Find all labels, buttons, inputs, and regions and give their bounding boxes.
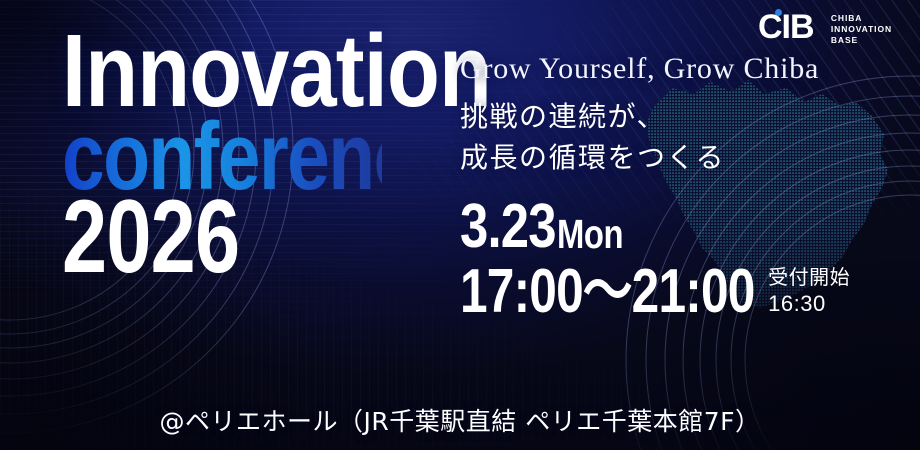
event-date-row: 3.23 Mon [460,200,900,253]
event-time: 17:00〜21:00 [460,264,755,320]
cib-logo-mark: CIB [758,10,822,49]
event-weekday: Mon [557,215,623,254]
svg-text:CIB: CIB [758,10,814,44]
title-word-year: 2026 [62,189,374,287]
reception-label: 受付開始 [768,265,850,289]
reception-time: 16:30 [768,290,850,319]
event-poster: CIB CHIBA INNOVATION BASE Innovation con… [0,0,920,450]
cib-logo-line-innovation: INNOVATION [831,24,892,35]
reception-info: 受付開始 16:30 [768,264,850,321]
cib-logo-line-base: BASE [831,35,892,46]
cib-logo[interactable]: CIB CHIBA INNOVATION BASE [758,10,892,49]
cib-logo-line-chiba: CHIBA [831,13,892,24]
tagline-english: Grow Yourself, Grow Chiba [460,52,900,85]
tagline-japanese-line-1: 挑戦の連続が、 [460,97,900,138]
tagline-japanese-line-2: 成長の循環をつくる [460,138,900,179]
event-info-block: Grow Yourself, Grow Chiba 挑戦の連続が、 成長の循環を… [460,52,900,320]
cib-logo-dot [775,9,782,16]
event-title-block: Innovation conference 2026 [62,24,462,287]
event-date: 3.23 [460,200,556,253]
tagline-japanese: 挑戦の連続が、 成長の循環をつくる [460,97,900,178]
venue-text: @ペリエホール（JR千葉駅直結 ペリエ千葉本館7F） [0,402,920,438]
event-time-row: 17:00〜21:00 受付開始 16:30 [460,264,900,321]
cib-logo-wordmark: CHIBA INNOVATION BASE [831,13,892,46]
